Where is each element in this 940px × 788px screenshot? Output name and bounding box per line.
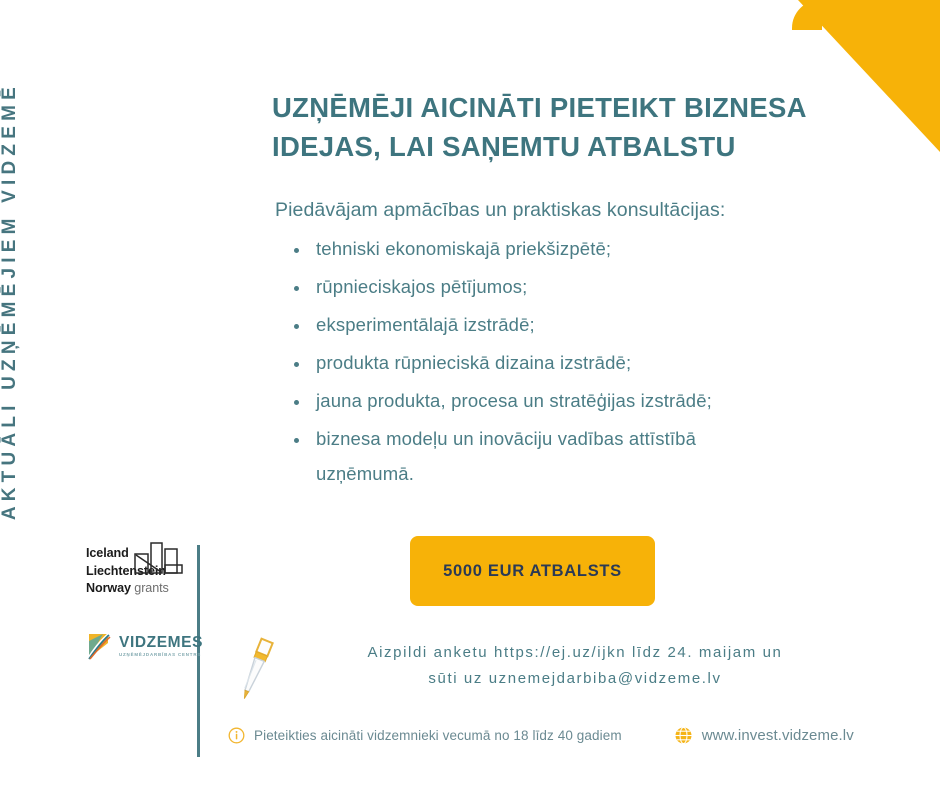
eligibility-note: Pieteikties aicināti vidzemnieki vecumā …	[228, 727, 622, 744]
website-url-text: www.invest.vidzeme.lv	[702, 727, 854, 744]
bullet-dot-icon	[294, 362, 299, 367]
vidzeme-logo-text: VIDZEMES UZŅĒMĒJDARBĪBAS CENTRS	[119, 635, 203, 658]
application-instruction-row: Aizpildi anketu https://ej.uz/ijkn līdz …	[228, 630, 878, 704]
website-link[interactable]: www.invest.vidzeme.lv	[674, 726, 854, 745]
bullet-dot-icon	[294, 286, 299, 291]
grants-logo-line3: Norway grants	[86, 580, 186, 598]
application-instruction-text: Aizpildi anketu https://ej.uz/ijkn līdz …	[280, 630, 878, 692]
support-amount-button[interactable]: 5000 EUR ATBALSTS	[410, 536, 655, 606]
page-subtitle: Piedāvājam apmācības un praktiskas konsu…	[272, 166, 872, 222]
list-item-label: produkta rūpnieciskā dizaina izstrādē;	[316, 352, 631, 373]
iceland-liechtenstein-norway-grants-logo: Iceland Liechtenstein Norway grants	[86, 545, 186, 598]
bullet-dot-icon	[294, 400, 299, 405]
list-item-label-line2: uzņēmumā.	[316, 449, 872, 484]
corner-triangle-rounded-cap	[792, 0, 822, 30]
bullet-dot-icon	[294, 248, 299, 253]
globe-icon	[674, 726, 693, 745]
pen-icon	[228, 632, 280, 704]
vidzeme-swoosh-mark-icon	[86, 631, 112, 661]
main-content: UZŅĒMĒJI AICINĀTI PIETEIKT BIZNESA IDEJA…	[272, 88, 872, 503]
offer-bullet-list: tehniski ekonomiskajā priekšizpētē; rūpn…	[272, 222, 872, 483]
vidzeme-logo-subtitle: UZŅĒMĒJDARBĪBAS CENTRS	[119, 650, 203, 657]
info-circle-icon	[228, 727, 245, 744]
grants-bars-mark-icon	[134, 541, 184, 575]
vidzeme-logo-name: VIDZEMES	[119, 635, 203, 651]
grants-logo-line3-bold: Norway	[86, 581, 131, 595]
grants-logo-line3-light: grants	[131, 581, 169, 595]
page-title: UZŅĒMĒJI AICINĀTI PIETEIKT BIZNESA IDEJA…	[272, 88, 872, 166]
list-item-label: eksperimentālajā izstrādē;	[316, 314, 535, 335]
list-item: biznesa modeļu un inovāciju vadības attī…	[288, 430, 872, 483]
list-item-label: biznesa modeļu un inovāciju vadības attī…	[316, 428, 696, 449]
eligibility-note-text: Pieteikties aicināti vidzemnieki vecumā …	[254, 728, 622, 743]
bullet-dot-icon	[294, 324, 299, 329]
poster-canvas: AKTUĀLI UZŅĒMĒJIEM VIDZEMĒ UZŅĒMĒJI AICI…	[0, 0, 940, 788]
list-item: tehniski ekonomiskajā priekšizpētē;	[288, 240, 872, 259]
footer-bar: Pieteikties aicināti vidzemnieki vecumā …	[228, 726, 888, 745]
side-label-text: AKTUĀLI UZŅĒMĒJIEM VIDZEMĒ	[0, 66, 215, 520]
bullet-dot-icon	[294, 438, 299, 443]
list-item-label: rūpnieciskajos pētījumos;	[316, 276, 527, 297]
list-item: jauna produkta, procesa un stratēģijas i…	[288, 392, 872, 411]
list-item: eksperimentālajā izstrādē;	[288, 316, 872, 335]
application-instruction-line2: sūti uz uznemejdarbiba@vidzeme.lv	[280, 666, 870, 692]
cta-container: 5000 EUR ATBALSTS	[410, 536, 655, 606]
list-item: produkta rūpnieciskā dizaina izstrādē;	[288, 354, 872, 373]
application-instruction-line1: Aizpildi anketu https://ej.uz/ijkn līdz …	[280, 640, 870, 666]
vertical-side-label: AKTUĀLI UZŅĒMĒJIEM VIDZEMĒ	[0, 0, 230, 520]
list-item: rūpnieciskajos pētījumos;	[288, 278, 872, 297]
vidzemes-business-centre-logo: VIDZEMES UZŅĒMĒJDARBĪBAS CENTRS	[86, 631, 203, 661]
list-item-label: tehniski ekonomiskajā priekšizpētē;	[316, 238, 611, 259]
list-item-label: jauna produkta, procesa un stratēģijas i…	[316, 390, 712, 411]
